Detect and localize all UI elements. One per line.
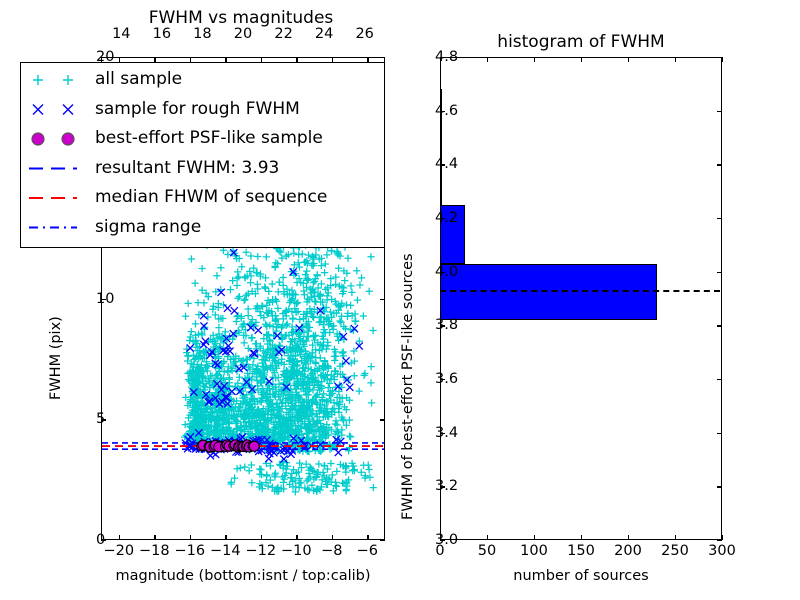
legend-label: resultant FWHM: 3.93	[95, 158, 279, 178]
x-tick-mark	[722, 535, 723, 540]
x-tick-mark	[675, 535, 676, 540]
figure-canvas: FWHM vs magnitudes 14161820222426 −20−18…	[0, 0, 800, 600]
x-tick-label-bottom: −18	[139, 543, 170, 559]
x-tick-label-top: 22	[274, 26, 292, 42]
x-tick-mark-bottom	[367, 535, 368, 540]
y-tick-mark-right	[717, 272, 722, 273]
right-panel-title: histogram of FWHM	[497, 32, 664, 52]
y-tick-label: 4.0	[435, 264, 458, 280]
x-tick-label-bottom: −10	[281, 543, 312, 559]
legend: all samplesample for rough FWHMbest-effo…	[20, 62, 385, 248]
y-tick-mark	[101, 299, 106, 300]
x-tick-label: 300	[708, 543, 736, 559]
x-tick-mark	[487, 535, 488, 540]
x-tick-label: 100	[520, 543, 548, 559]
x-tick-mark-top	[581, 57, 582, 62]
y-tick-mark	[101, 57, 106, 58]
x-tick-mark-bottom	[296, 535, 297, 540]
x-tick-label: 200	[614, 543, 642, 559]
x-tick-label-bottom: −20	[103, 543, 134, 559]
y-tick-mark-right	[380, 57, 385, 58]
x-tick-mark	[581, 535, 582, 540]
x-tick-label-bottom: −16	[174, 543, 205, 559]
y-tick-mark-right	[717, 433, 722, 434]
left-x-axis-label: magnitude (bottom:isnt / top:calib)	[115, 568, 370, 584]
resultant-fwhm-line	[441, 290, 720, 292]
legend-label: all sample	[95, 69, 182, 89]
legend-marker-layer	[21, 63, 384, 247]
y-tick-mark-right	[717, 218, 722, 219]
y-tick-label: 4.4	[435, 156, 458, 172]
x-tick-label: 150	[567, 543, 595, 559]
x-tick-label-top: 26	[355, 26, 373, 42]
legend-marker-circle	[32, 133, 74, 145]
x-tick-mark-bottom	[225, 535, 226, 540]
x-tick-mark-top	[487, 57, 488, 62]
y-tick-mark-right	[717, 325, 722, 326]
x-tick-label-top: 24	[315, 26, 333, 42]
y-tick-label: 3.8	[435, 317, 458, 333]
left-y-axis-label: FWHM (pix)	[48, 316, 64, 400]
x-tick-mark-bottom	[154, 535, 155, 540]
x-tick-mark	[534, 535, 535, 540]
x-tick-mark-top	[534, 57, 535, 62]
x-tick-mark-bottom	[332, 535, 333, 540]
x-tick-mark-top	[722, 57, 723, 62]
y-tick-label: 4.2	[435, 210, 458, 226]
y-tick-mark-right	[380, 540, 385, 541]
y-tick-label: 4.6	[435, 103, 458, 119]
x-tick-mark-bottom	[261, 535, 262, 540]
y-tick-mark-right	[717, 486, 722, 487]
y-tick-mark-right	[717, 164, 722, 165]
legend-label: sigma range	[95, 217, 201, 237]
x-tick-label-top: 16	[153, 26, 171, 42]
x-tick-label-bottom: −6	[357, 543, 378, 559]
x-tick-label-top: 20	[234, 26, 252, 42]
x-tick-label: 0	[435, 543, 444, 559]
y-tick-label: 3.2	[435, 478, 458, 494]
y-tick-label: 3.4	[435, 425, 458, 441]
y-tick-mark-right	[717, 379, 722, 380]
legend-marker-cross	[33, 105, 73, 115]
legend-marker-plus	[33, 75, 73, 85]
y-tick-mark-right	[717, 111, 722, 112]
x-tick-mark-bottom	[119, 535, 120, 540]
x-tick-label-bottom: −8	[321, 543, 342, 559]
y-tick-label: 4.8	[435, 49, 458, 65]
x-tick-label-top: 14	[112, 26, 130, 42]
right-x-axis-label: number of sources	[513, 568, 649, 584]
x-tick-mark-top	[675, 57, 676, 62]
left-panel-title: FWHM vs magnitudes	[149, 8, 334, 28]
x-tick-label-bottom: −14	[210, 543, 241, 559]
x-tick-label-top: 18	[193, 26, 211, 42]
y-tick-mark-right	[380, 299, 385, 300]
x-tick-label-bottom: −12	[245, 543, 276, 559]
y-tick-mark	[101, 419, 106, 420]
legend-label: best-effort PSF-like sample	[95, 128, 323, 148]
legend-label: sample for rough FWHM	[95, 99, 300, 119]
x-tick-mark-bottom	[190, 535, 191, 540]
histogram-plot-area	[441, 58, 721, 539]
right-y-axis-label: FWHM of best-effort PSF-like sources	[400, 253, 416, 520]
x-tick-mark-top	[628, 57, 629, 62]
x-tick-label: 50	[478, 543, 496, 559]
psf-like-points	[197, 440, 259, 453]
y-tick-label: 3.6	[435, 371, 458, 387]
y-tick-mark-right	[380, 419, 385, 420]
x-tick-label: 250	[661, 543, 689, 559]
y-tick-mark-right	[717, 540, 722, 541]
y-tick-mark	[101, 540, 106, 541]
legend-label: median FHWM of sequence	[95, 187, 327, 207]
x-tick-mark	[628, 535, 629, 540]
